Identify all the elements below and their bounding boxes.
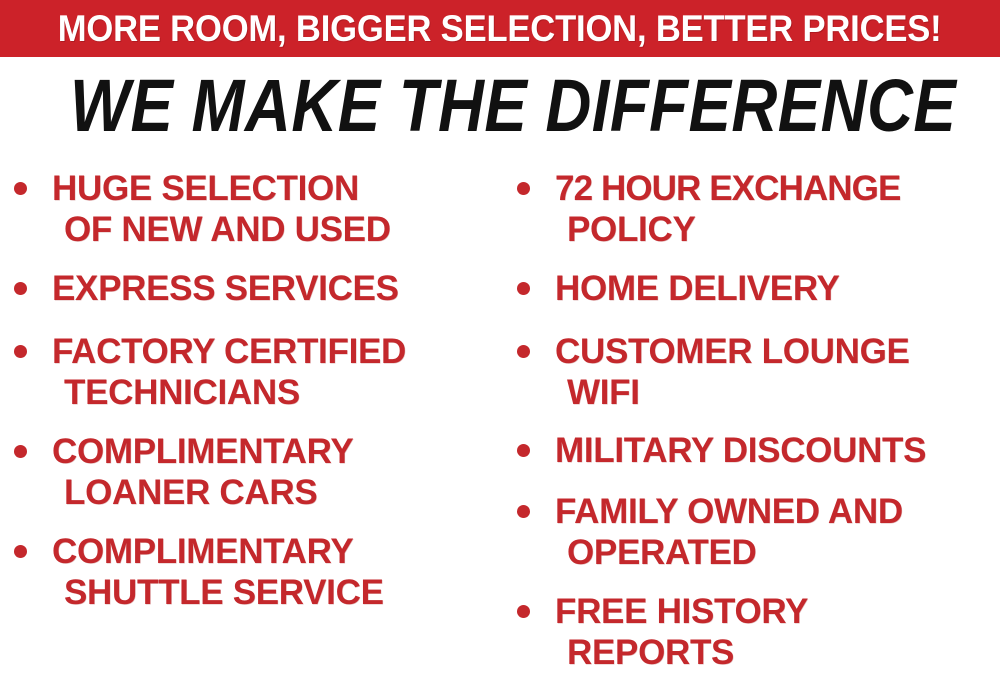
features-list: HUGE SELECTIONOF NEW AND USEDEXPRESS SER… <box>0 160 1000 694</box>
feature-item-line: HUGE SELECTION <box>52 168 391 209</box>
feature-item: COMPLIMENTARYLOANER CARS <box>14 431 353 513</box>
feature-item-line: REPORTS <box>555 632 808 673</box>
feature-item-text: 72 HOUR EXCHANGEPOLICY <box>555 168 900 250</box>
bullet-dot-icon <box>517 444 530 457</box>
feature-item-text: FACTORY CERTIFIEDTECHNICIANS <box>52 331 406 413</box>
feature-item: HUGE SELECTIONOF NEW AND USED <box>14 168 391 250</box>
feature-item-line: WIFI <box>555 372 910 413</box>
page-title: WE MAKE THE DIFFERENCE <box>70 69 930 143</box>
bullet-dot-icon <box>517 345 530 358</box>
top-promo-banner: MORE ROOM, BIGGER SELECTION, BETTER PRIC… <box>0 0 1000 57</box>
feature-item-text: COMPLIMENTARYLOANER CARS <box>52 431 353 513</box>
promo-banner-text: MORE ROOM, BIGGER SELECTION, BETTER PRIC… <box>58 10 942 47</box>
feature-item-line: SHUTTLE SERVICE <box>52 572 384 613</box>
feature-item-line: COMPLIMENTARY <box>52 531 384 572</box>
feature-item: CUSTOMER LOUNGEWIFI <box>517 331 910 413</box>
feature-item-line: 72 HOUR EXCHANGE <box>555 168 900 209</box>
bullet-dot-icon <box>517 505 530 518</box>
feature-item: FACTORY CERTIFIEDTECHNICIANS <box>14 331 406 413</box>
feature-item-line: OPERATED <box>555 532 903 573</box>
feature-item: FAMILY OWNED ANDOPERATED <box>517 491 903 573</box>
bullet-dot-icon <box>517 605 530 618</box>
feature-item: 72 HOUR EXCHANGEPOLICY <box>517 168 900 250</box>
bullet-dot-icon <box>14 182 27 195</box>
feature-item-text: CUSTOMER LOUNGEWIFI <box>555 331 910 413</box>
feature-item: FREE HISTORYREPORTS <box>517 591 808 673</box>
feature-item-line: OF NEW AND USED <box>52 209 391 250</box>
bullet-dot-icon <box>14 545 27 558</box>
feature-item-line: LOANER CARS <box>52 472 353 513</box>
feature-item-text: COMPLIMENTARYSHUTTLE SERVICE <box>52 531 384 613</box>
feature-item-text: EXPRESS SERVICES <box>52 268 399 309</box>
feature-item-text: FAMILY OWNED ANDOPERATED <box>555 491 903 573</box>
feature-item-line: FREE HISTORY <box>555 591 808 632</box>
feature-item-line: EXPRESS SERVICES <box>52 268 399 309</box>
feature-item: HOME DELIVERY <box>517 268 840 309</box>
bullet-dot-icon <box>517 282 530 295</box>
advertisement-banner: MORE ROOM, BIGGER SELECTION, BETTER PRIC… <box>0 0 1000 694</box>
features-column-right: 72 HOUR EXCHANGEPOLICYHOME DELIVERYCUSTO… <box>517 160 1000 694</box>
feature-item-line: HOME DELIVERY <box>555 268 840 309</box>
feature-item-text: FREE HISTORYREPORTS <box>555 591 808 673</box>
bullet-dot-icon <box>14 345 27 358</box>
bullet-dot-icon <box>14 282 27 295</box>
features-column-left: HUGE SELECTIONOF NEW AND USEDEXPRESS SER… <box>14 160 504 694</box>
bullet-dot-icon <box>14 445 27 458</box>
feature-item: MILITARY DISCOUNTS <box>517 430 926 471</box>
feature-item-line: COMPLIMENTARY <box>52 431 353 472</box>
feature-item-text: HOME DELIVERY <box>555 268 840 309</box>
feature-item-line: POLICY <box>555 209 900 250</box>
feature-item-line: MILITARY DISCOUNTS <box>555 430 926 471</box>
feature-item-text: HUGE SELECTIONOF NEW AND USED <box>52 168 391 250</box>
feature-item-line: TECHNICIANS <box>52 372 406 413</box>
feature-item-line: FACTORY CERTIFIED <box>52 331 406 372</box>
feature-item: EXPRESS SERVICES <box>14 268 399 309</box>
feature-item-line: FAMILY OWNED AND <box>555 491 903 532</box>
feature-item: COMPLIMENTARYSHUTTLE SERVICE <box>14 531 384 613</box>
bullet-dot-icon <box>517 182 530 195</box>
feature-item-line: CUSTOMER LOUNGE <box>555 331 910 372</box>
feature-item-text: MILITARY DISCOUNTS <box>555 430 926 471</box>
